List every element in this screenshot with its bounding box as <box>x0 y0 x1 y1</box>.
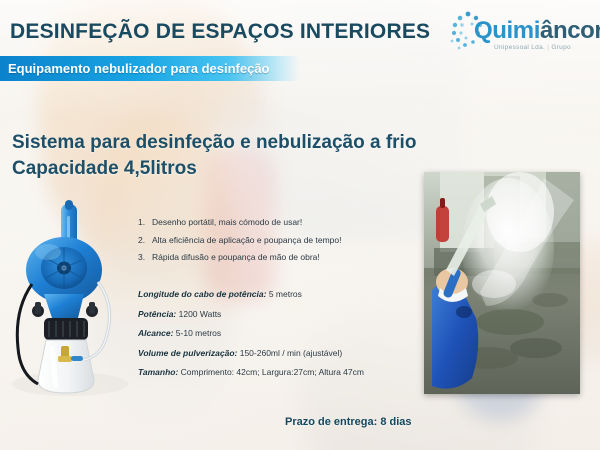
brand-logo-word-second: âncora <box>540 17 600 44</box>
list-item: 3. Rápida difusão e poupança de mão de o… <box>138 253 428 262</box>
spec-label: Tamanho: <box>138 367 178 377</box>
headline-line-1: Sistema para desinfeção e nebulização a … <box>12 132 416 153</box>
feature-text: Alta eficiência de aplicação e poupança … <box>152 236 342 245</box>
spec-label: Longitude do cabo de potência: <box>138 289 266 299</box>
demo-image-spraying <box>424 172 580 394</box>
spec-value: 5 metros <box>266 289 301 299</box>
spec-value: Comprimento: 42cm; Largura:27cm; Altura … <box>178 367 364 377</box>
brand-tagline-right: Grupo <box>551 44 571 51</box>
spec-row: Longitude do cabo de potência: 5 metros <box>138 290 438 299</box>
spec-label: Alcance: <box>138 328 173 338</box>
brand-logo-word-first: Quimi <box>474 17 540 44</box>
spec-value: 150-260ml / min (ajustável) <box>237 348 342 358</box>
feature-list: 1. Desenho portátil, mais cómodo de usar… <box>138 218 428 271</box>
brand-tagline-separator: | <box>547 44 549 51</box>
brand-logo-wordmark: Quimiâncora <box>474 17 600 45</box>
slide-root: DESINFEÇÃO DE ESPAÇOS INTERIORES Equipam… <box>0 0 600 450</box>
spec-label: Potência: <box>138 309 176 319</box>
spec-row: Volume de pulverização: 150-260ml / min … <box>138 349 438 358</box>
list-item: 1. Desenho portátil, mais cómodo de usar… <box>138 218 428 227</box>
feature-text: Desenho portátil, mais cómodo de usar! <box>152 218 302 227</box>
product-image-fogger <box>8 198 130 398</box>
delivery-note: Prazo de entrega: 8 dias <box>285 416 412 428</box>
product-headline: Sistema para desinfeção e nebulização a … <box>12 130 416 181</box>
feature-number: 1. <box>138 218 152 227</box>
brand-tagline-left: Unipessoal Lda. <box>494 44 545 51</box>
spec-row: Tamanho: Comprimento: 42cm; Largura:27cm… <box>138 368 438 377</box>
subtitle-banner-label: Equipamento nebulizador para desinfeção <box>0 61 270 76</box>
spec-value: 5-10 metros <box>173 328 221 338</box>
brand-logo[interactable]: Quimiâncora Unipessoal Lda. | Grupo <box>450 8 594 60</box>
list-item: 2. Alta eficiência de aplicação e poupan… <box>138 236 428 245</box>
spec-value: 1200 Watts <box>176 309 221 319</box>
headline-line-2: Capacidade 4,5litros <box>12 156 416 182</box>
feature-text: Rápida difusão e poupança de mão de obra… <box>152 253 320 262</box>
page-title: DESINFEÇÃO DE ESPAÇOS INTERIORES <box>10 20 430 44</box>
brand-logo-tagline: Unipessoal Lda. | Grupo <box>494 44 571 51</box>
subtitle-banner: Equipamento nebulizador para desinfeção <box>0 56 300 81</box>
spec-row: Potência: 1200 Watts <box>138 310 438 319</box>
feature-number: 2. <box>138 236 152 245</box>
feature-number: 3. <box>138 253 152 262</box>
spec-row: Alcance: 5-10 metros <box>138 329 438 338</box>
spec-list: Longitude do cabo de potência: 5 metros … <box>138 290 438 388</box>
spec-label: Volume de pulverização: <box>138 348 237 358</box>
